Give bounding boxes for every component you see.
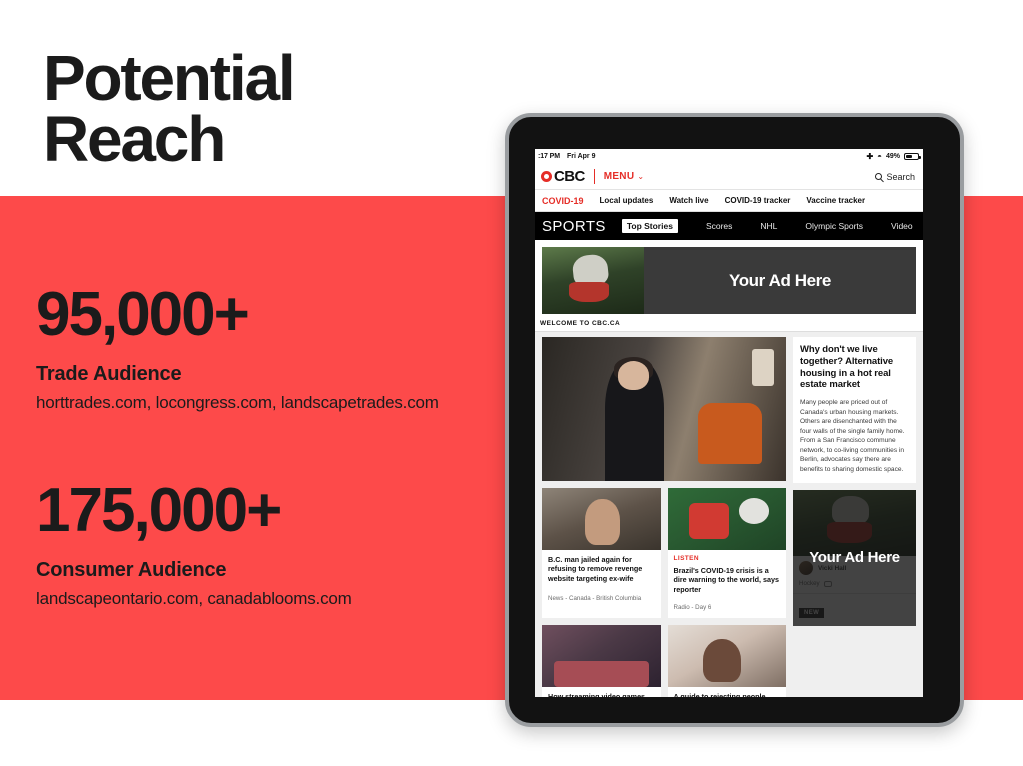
chevron-down-icon[interactable]: ⌄ bbox=[637, 172, 644, 181]
search-button[interactable]: Search bbox=[875, 172, 915, 182]
wifi-icon: ◓ bbox=[877, 152, 882, 161]
covid-nav-bar: COVID-19 Local updates Watch live COVID-… bbox=[535, 190, 923, 212]
battery-percent: 49% bbox=[886, 153, 900, 160]
list-item[interactable]: A guide to rejecting people respectfully bbox=[668, 625, 787, 697]
nav-item-local-updates[interactable]: Local updates bbox=[600, 196, 654, 205]
status-date: Fri Apr 9 bbox=[567, 153, 596, 160]
content-grid: B.C. man jailed again for refusing to re… bbox=[535, 332, 923, 697]
sports-nav-bar: SPORTS Top Stories Scores NHL Olympic Sp… bbox=[535, 212, 923, 240]
list-item[interactable]: How streaming video games on Twitch has … bbox=[542, 625, 661, 697]
stat-sites: landscapeontario.com, canadablooms.com bbox=[36, 589, 352, 609]
cbc-logo-text[interactable]: CBC bbox=[554, 168, 585, 185]
card-image bbox=[542, 625, 661, 687]
stat-label: Consumer Audience bbox=[36, 559, 352, 582]
featured-article-image[interactable] bbox=[542, 337, 786, 481]
nav-item-watch-live[interactable]: Watch live bbox=[669, 196, 708, 205]
stat-block-consumer: 175,000+ Consumer Audience landscapeonta… bbox=[36, 478, 352, 609]
search-icon bbox=[875, 173, 882, 180]
airplane-icon: ✚ bbox=[866, 152, 873, 161]
stat-label: Trade Audience bbox=[36, 363, 439, 386]
welcome-strip: WELCOME TO CBC.CA bbox=[535, 314, 923, 332]
card-title: How streaming video games on Twitch has … bbox=[548, 692, 655, 697]
banner-ad-container: Your Ad Here bbox=[535, 240, 923, 314]
tab-scores[interactable]: Scores bbox=[706, 221, 732, 231]
status-time: :17 PM bbox=[538, 153, 560, 160]
card-title: A guide to rejecting people respectfully bbox=[674, 692, 781, 697]
featured-summary: Many people are priced out of Canada's u… bbox=[800, 398, 909, 474]
card-image bbox=[542, 488, 661, 550]
tablet-device: :17 PM Fri Apr 9 ✚ ◓ 49% CBC MENU ⌄ Sea bbox=[505, 113, 964, 727]
cbc-site-header: CBC MENU ⌄ Search bbox=[535, 164, 923, 190]
battery-icon bbox=[904, 153, 919, 160]
tab-nhl[interactable]: NHL bbox=[760, 221, 777, 231]
menu-button[interactable]: MENU bbox=[604, 171, 635, 182]
stat-number: 175,000+ bbox=[36, 478, 352, 543]
banner-ad[interactable]: Your Ad Here bbox=[542, 247, 916, 314]
stat-sites: horttrades.com, locongress.com, landscap… bbox=[36, 393, 439, 413]
stat-block-trade: 95,000+ Trade Audience horttrades.com, l… bbox=[36, 282, 439, 413]
page-title: Potential Reach bbox=[43, 48, 293, 170]
tab-video[interactable]: Video bbox=[891, 221, 913, 231]
tab-top-stories[interactable]: Top Stories bbox=[622, 219, 678, 233]
ios-status-bar: :17 PM Fri Apr 9 ✚ ◓ 49% bbox=[535, 149, 923, 164]
tablet-screen: :17 PM Fri Apr 9 ✚ ◓ 49% CBC MENU ⌄ Sea bbox=[535, 149, 923, 697]
nav-item-covid-tracker[interactable]: COVID-19 tracker bbox=[725, 196, 791, 205]
card-row-bottom: How streaming video games on Twitch has … bbox=[542, 625, 786, 697]
nav-item-covid19[interactable]: COVID-19 bbox=[542, 196, 584, 206]
tab-olympic-sports[interactable]: Olympic Sports bbox=[805, 221, 863, 231]
card-meta: Radio - Day 6 bbox=[674, 604, 781, 611]
cbc-gem-icon bbox=[541, 171, 552, 182]
banner-ad-text: Your Ad Here bbox=[644, 271, 916, 291]
card-meta: News - Canada - British Columbia bbox=[548, 595, 655, 602]
page-title-line2: Reach bbox=[43, 109, 293, 170]
list-item[interactable]: B.C. man jailed again for refusing to re… bbox=[542, 488, 661, 618]
card-image bbox=[668, 625, 787, 687]
sidebar-ad-slot: Vicki Hall Hockey NEW Your Ad Here bbox=[793, 490, 916, 626]
card-title: Brazil's COVID-19 crisis is a dire warni… bbox=[674, 566, 781, 594]
header-divider bbox=[594, 169, 595, 184]
card-title: B.C. man jailed again for refusing to re… bbox=[548, 555, 655, 583]
list-item[interactable]: LISTEN Brazil's COVID-19 crisis is a dir… bbox=[668, 488, 787, 618]
section-title-sports: SPORTS bbox=[542, 218, 606, 235]
card-row-top: B.C. man jailed again for refusing to re… bbox=[542, 488, 786, 618]
side-column: Why don't we live together? Alternative … bbox=[793, 337, 916, 697]
card-image bbox=[668, 488, 787, 550]
featured-headline: Why don't we live together? Alternative … bbox=[800, 344, 909, 391]
listen-badge: LISTEN bbox=[674, 555, 781, 562]
sidebar-ad-overlay[interactable]: Your Ad Here bbox=[793, 490, 916, 626]
search-label: Search bbox=[886, 172, 915, 182]
stat-number: 95,000+ bbox=[36, 282, 439, 347]
status-right-group: ✚ ◓ 49% bbox=[866, 152, 919, 161]
featured-article-text[interactable]: Why don't we live together? Alternative … bbox=[793, 337, 916, 483]
slide-root: Potential Reach 95,000+ Trade Audience h… bbox=[0, 0, 1023, 766]
nav-item-vaccine-tracker[interactable]: Vaccine tracker bbox=[806, 196, 865, 205]
banner-ad-thumbnail bbox=[542, 247, 644, 314]
main-column: B.C. man jailed again for refusing to re… bbox=[542, 337, 786, 697]
